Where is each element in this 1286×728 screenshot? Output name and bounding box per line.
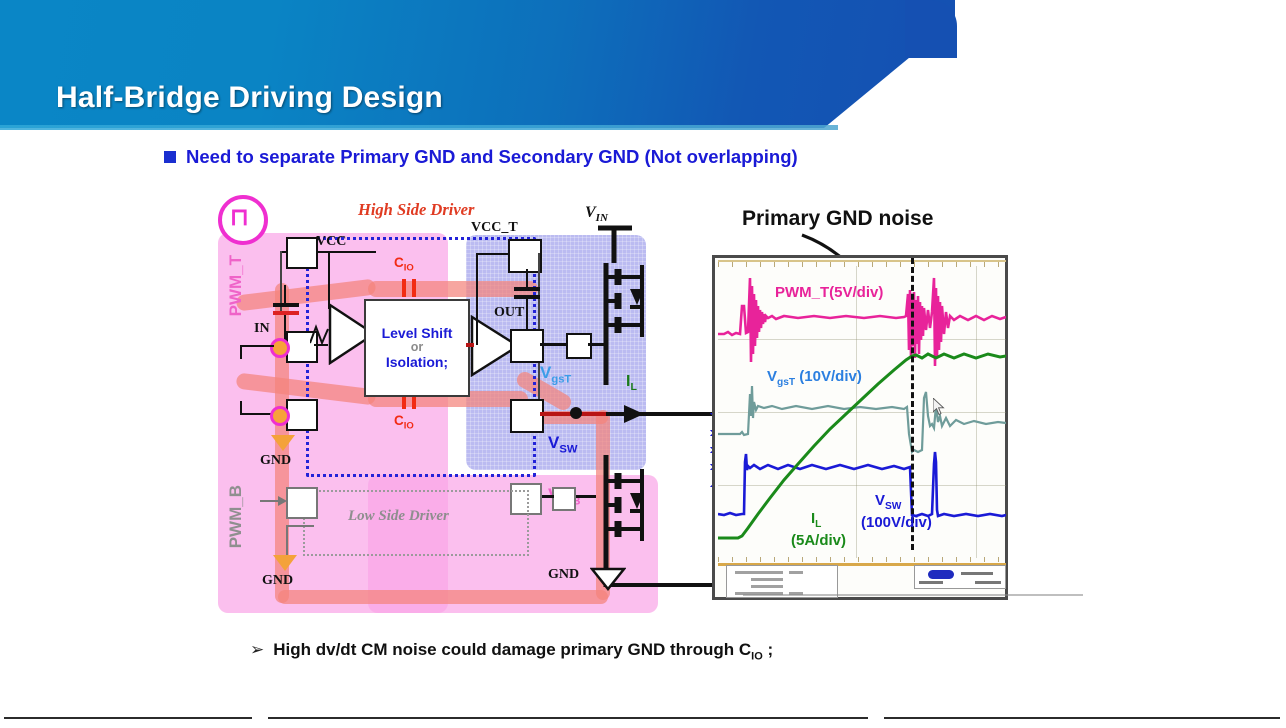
footer-rule-center bbox=[268, 717, 868, 719]
wire-lowside-gate bbox=[574, 495, 596, 498]
wire-boot-up bbox=[526, 269, 528, 287]
il-current-arrow-icon bbox=[622, 403, 648, 425]
level-shift-box: Level Shift or Isolation; bbox=[364, 299, 470, 397]
trace-vgst bbox=[718, 386, 1006, 452]
wire-src-left bbox=[240, 345, 242, 359]
node-in bbox=[270, 338, 290, 358]
pwm-t-label: PWM_T bbox=[226, 255, 246, 316]
gnd-triangle-2 bbox=[273, 555, 297, 571]
high-side-mosfet bbox=[594, 225, 674, 425]
wire-src-top bbox=[240, 345, 274, 347]
scope-label-il: IL bbox=[811, 510, 821, 530]
header-underline bbox=[0, 125, 838, 130]
cio-bottom-letter: C bbox=[394, 413, 404, 428]
vgst-letter: V bbox=[540, 363, 551, 382]
high-side-driver-label: High Side Driver bbox=[358, 200, 474, 220]
pin-vcc-t bbox=[508, 239, 542, 273]
mouse-cursor-icon bbox=[933, 398, 945, 416]
circuit-schematic: High Side Driver VIN bbox=[218, 195, 678, 620]
gnd-label-1: GND bbox=[260, 453, 291, 469]
wire-vcc-right bbox=[328, 251, 330, 285]
scope-cursor-line[interactable] bbox=[911, 258, 914, 550]
wire-pwmb-gnd-v bbox=[286, 525, 288, 557]
pwm-b-label: PWM_B bbox=[226, 485, 246, 548]
pin-in-label: IN bbox=[254, 321, 270, 337]
level-shift-line-3: Isolation; bbox=[386, 355, 448, 370]
vin-label: VIN bbox=[585, 204, 608, 224]
wire-out-to-gate bbox=[540, 343, 568, 346]
pin-gnd-primary bbox=[286, 399, 318, 431]
pin-vcc-t-label: VCC_T bbox=[471, 220, 518, 236]
scope-vgst-letter: V bbox=[767, 368, 777, 385]
cap-cio-top bbox=[396, 279, 422, 297]
primary-bullet: Need to separate Primary GND and Seconda… bbox=[164, 146, 798, 168]
page-title: Half-Bridge Driving Design bbox=[56, 81, 443, 115]
wire-vcc-left bbox=[280, 251, 282, 311]
figure-area: High Side Driver VIN bbox=[0, 190, 1286, 620]
scope-vsw-letter: V bbox=[875, 492, 885, 509]
pin-sw bbox=[510, 399, 544, 433]
scope-vgst-sub: gsT bbox=[777, 377, 795, 388]
pulse-glyph: ⊓ bbox=[230, 206, 249, 230]
pin-gate-resistor bbox=[566, 333, 592, 359]
wire-vcct-left bbox=[476, 253, 510, 255]
scope-vgst-units: (10V/div) bbox=[795, 368, 862, 385]
pin-out bbox=[510, 329, 544, 363]
footer-rule-left bbox=[4, 717, 252, 719]
vin-letter: V bbox=[585, 204, 596, 221]
level-shift-line-1: Level Shift bbox=[382, 326, 453, 341]
vgst-sub: gsT bbox=[551, 373, 571, 385]
header-corner-shape bbox=[905, 0, 957, 58]
wire-cap-prim-up bbox=[284, 285, 286, 303]
wire-in-to-amp bbox=[314, 344, 328, 346]
low-side-driver-label: Low Side Driver bbox=[348, 508, 449, 525]
scope-trigger-indicator bbox=[928, 570, 954, 579]
scope-label-vsw: VSW bbox=[875, 492, 901, 512]
wire-ls-to-amp2 bbox=[466, 343, 474, 347]
cio-top-sub: IO bbox=[404, 263, 414, 274]
primary-gnd-noise-annotation: Primary GND noise bbox=[742, 207, 933, 231]
wire-amp-vcc bbox=[328, 285, 330, 309]
gnd-label-3: GND bbox=[548, 567, 579, 583]
wire-pwmb-gnd-h bbox=[286, 525, 314, 527]
cio-bottom-sub: IO bbox=[404, 421, 414, 432]
scope-status-underline bbox=[743, 594, 1083, 596]
wire-vcct-down bbox=[476, 253, 478, 345]
vsw-label: VSW bbox=[548, 433, 577, 455]
cio-top-label: CIO bbox=[394, 255, 414, 274]
trace-vsw bbox=[718, 452, 1006, 516]
vin-subscript: IN bbox=[596, 212, 608, 224]
scope-trigger-box bbox=[914, 565, 1006, 589]
pin-pwm-b-in bbox=[286, 487, 318, 519]
secondary-bullet: ➢ High dv/dt CM noise could damage prima… bbox=[250, 640, 773, 662]
boot-cap-plate-top bbox=[514, 287, 540, 291]
secondary-bullet-text: High dv/dt CM noise could damage primary… bbox=[273, 640, 773, 662]
scope-label-vsw-units: (100V/div) bbox=[861, 514, 932, 531]
gnd-triangle-1 bbox=[271, 435, 295, 451]
cap-prim-plate-top bbox=[273, 303, 299, 307]
vgst-label: VgsT bbox=[540, 363, 571, 385]
scope-label-pwm-t: PWM_T(5V/div) bbox=[775, 284, 883, 301]
cap-prim-plate-bottom bbox=[273, 311, 299, 315]
scope-vsw-sub: SW bbox=[885, 501, 901, 512]
secondary-bullet-text-tail: ; bbox=[763, 640, 773, 659]
footer-rule-right bbox=[884, 717, 1280, 719]
scope-label-vgst: VgsT (10V/div) bbox=[767, 368, 862, 388]
arrow-bullet-icon: ➢ bbox=[250, 641, 264, 658]
cm-current-path-bottom-rail bbox=[278, 590, 608, 604]
wire-boot-down bbox=[526, 299, 528, 331]
pin-vcc-label: VCC bbox=[316, 234, 346, 250]
oscilloscope-capture: Primary GND noise bbox=[712, 255, 1012, 605]
bullet-square-icon bbox=[164, 151, 176, 163]
gnd-triangle-3-outline bbox=[590, 567, 626, 591]
node-dot-sw bbox=[570, 407, 582, 419]
pin-out-label: OUT bbox=[494, 305, 524, 321]
secondary-bullet-text-main: High dv/dt CM noise could damage primary… bbox=[273, 640, 751, 659]
primary-bullet-text: Need to separate Primary GND and Seconda… bbox=[186, 146, 798, 168]
trace-il bbox=[718, 354, 1006, 538]
scope-status-bar bbox=[718, 565, 1006, 597]
scope-il-sub: L bbox=[815, 519, 821, 530]
scope-screen: PWM_T(5V/div) VgsT (10V/div) VSW (100V/d… bbox=[712, 255, 1008, 600]
level-shift-line-2: or bbox=[411, 341, 424, 355]
gnd-label-2: GND bbox=[262, 573, 293, 589]
vsw-sub: SW bbox=[559, 443, 577, 455]
wire-src-leftdown bbox=[240, 401, 242, 415]
secondary-bullet-subscript: IO bbox=[751, 650, 763, 662]
pin-gate-lowside-res bbox=[552, 487, 576, 511]
pin-vcc bbox=[286, 237, 318, 269]
node-gnd-primary bbox=[270, 406, 290, 426]
pwm-b-input-arrow-icon bbox=[260, 493, 288, 509]
cio-top-letter: C bbox=[394, 255, 404, 270]
pwm-source-symbol: ⊓ bbox=[218, 195, 268, 245]
cio-bottom-label: CIO bbox=[394, 413, 414, 432]
slide-header: Half-Bridge Driving Design bbox=[0, 0, 1286, 131]
scope-label-il-units: (5A/div) bbox=[791, 532, 846, 549]
vsw-letter: V bbox=[548, 433, 559, 452]
slide-root: Half-Bridge Driving Design Need to separ… bbox=[0, 0, 1286, 728]
